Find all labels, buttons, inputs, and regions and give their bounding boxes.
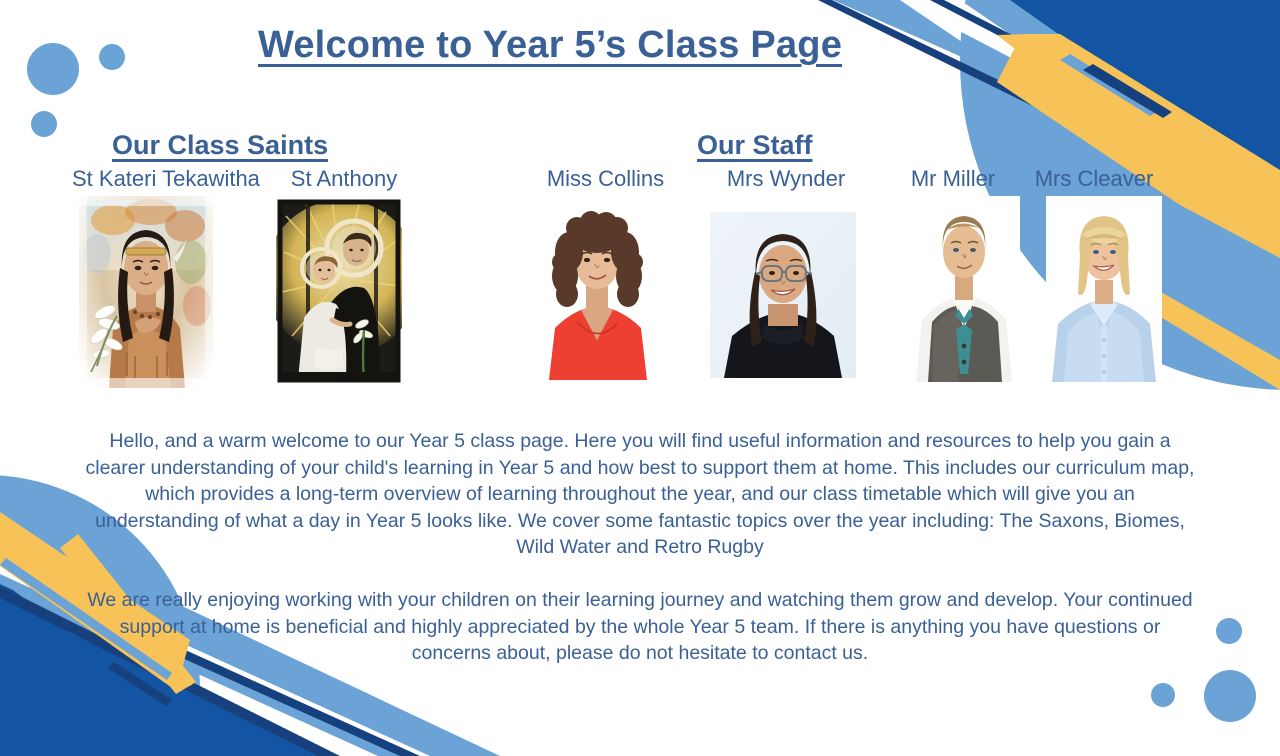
staff-photo-miller	[908, 196, 1020, 382]
bottom-left-navy-line-3	[108, 662, 172, 706]
section-heading-saints: Our Class Saints	[112, 130, 328, 161]
class-page-slide: Welcome to Year 5’s Class Page Our Class…	[0, 0, 1280, 756]
staff-name-cleaver: Mrs Cleaver	[1028, 166, 1160, 192]
top-right-navy-line-3	[1083, 64, 1172, 118]
welcome-paragraph-1: Hello, and a warm welcome to our Year 5 …	[84, 428, 1196, 561]
circle-small-top-left-b	[31, 111, 57, 137]
staff-name-miller: Mr Miller	[893, 166, 1013, 192]
saint-name-kateri: St Kateri Tekawitha	[72, 166, 252, 192]
page-title: Welcome to Year 5’s Class Page	[0, 24, 1100, 67]
saint-kateri-portrait	[79, 196, 213, 388]
staff-name-wynder: Mrs Wynder	[707, 166, 865, 192]
circle-small-bottom-right-b	[1151, 683, 1175, 707]
staff-name-collins: Miss Collins	[528, 166, 683, 192]
staff-photo-collins	[531, 200, 664, 380]
saint-name-anthony: St Anthony	[274, 166, 414, 192]
staff-photo-cleaver	[1046, 196, 1162, 382]
saint-anthony-stained-glass	[276, 196, 402, 386]
circle-large-bottom-right	[1204, 670, 1256, 722]
welcome-paragraph-2: We are really enjoying working with your…	[84, 587, 1196, 667]
staff-photo-wynder	[710, 212, 856, 378]
circle-small-bottom-right-a	[1216, 618, 1242, 644]
section-heading-staff: Our Staff	[697, 130, 813, 161]
